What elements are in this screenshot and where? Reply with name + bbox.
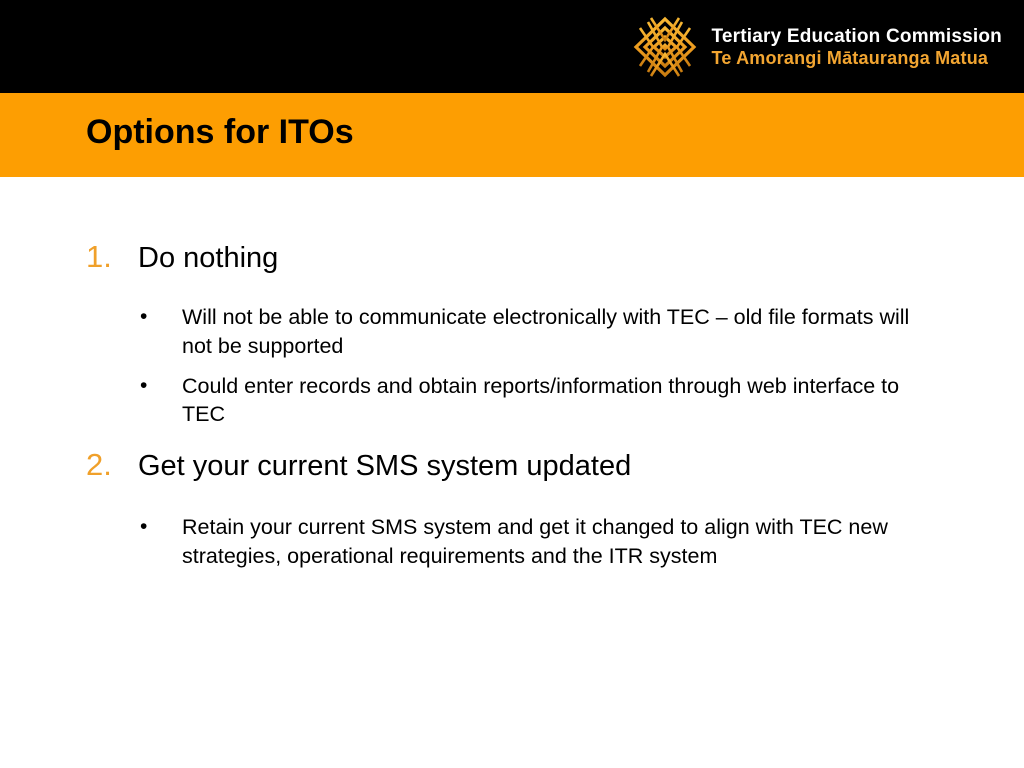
- list-item-1-number: 1.: [86, 239, 138, 275]
- bullet-text: Retain your current SMS system and get i…: [182, 513, 944, 570]
- bullet-text: Could enter records and obtain reports/i…: [182, 372, 944, 429]
- bullet-icon: •: [140, 513, 182, 541]
- logo-title: Tertiary Education Commission: [711, 26, 1002, 47]
- title-band: Options for ITOs: [0, 93, 1024, 177]
- bullet-icon: •: [140, 372, 182, 400]
- header-bar: Tertiary Education Commission Te Amorang…: [0, 0, 1024, 93]
- list-item-1-heading: Do nothing: [138, 242, 966, 275]
- page-title: Options for ITOs: [86, 113, 354, 152]
- list-item-1: 1. Do nothing: [86, 239, 966, 275]
- list-item: • Will not be able to communicate electr…: [86, 303, 966, 360]
- list-item-2-number: 2.: [86, 447, 138, 483]
- logo-subtitle-maori: Te Amorangi Mātauranga Matua: [711, 48, 1002, 68]
- slide: Tertiary Education Commission Te Amorang…: [0, 0, 1024, 768]
- bullet-text: Will not be able to communicate electron…: [182, 303, 944, 360]
- list-item: • Retain your current SMS system and get…: [86, 513, 966, 570]
- tec-diamond-lattice-logo-icon: [631, 14, 699, 80]
- list-item-2: 2. Get your current SMS system updated: [86, 447, 966, 483]
- slide-body: 1. Do nothing • Will not be able to comm…: [0, 177, 1024, 768]
- list-item-1-bullets: • Will not be able to communicate electr…: [86, 303, 966, 429]
- logo-text-block: Tertiary Education Commission Te Amorang…: [711, 26, 1002, 67]
- list-item: • Could enter records and obtain reports…: [86, 372, 966, 429]
- list-item-2-bullets: • Retain your current SMS system and get…: [86, 513, 966, 570]
- list-item-2-heading: Get your current SMS system updated: [138, 450, 966, 483]
- bullet-icon: •: [140, 303, 182, 331]
- spacer: [86, 279, 966, 289]
- spacer: [86, 487, 966, 499]
- outline-list: 1. Do nothing • Will not be able to comm…: [86, 239, 966, 588]
- tec-logo: Tertiary Education Commission Te Amorang…: [631, 14, 1002, 80]
